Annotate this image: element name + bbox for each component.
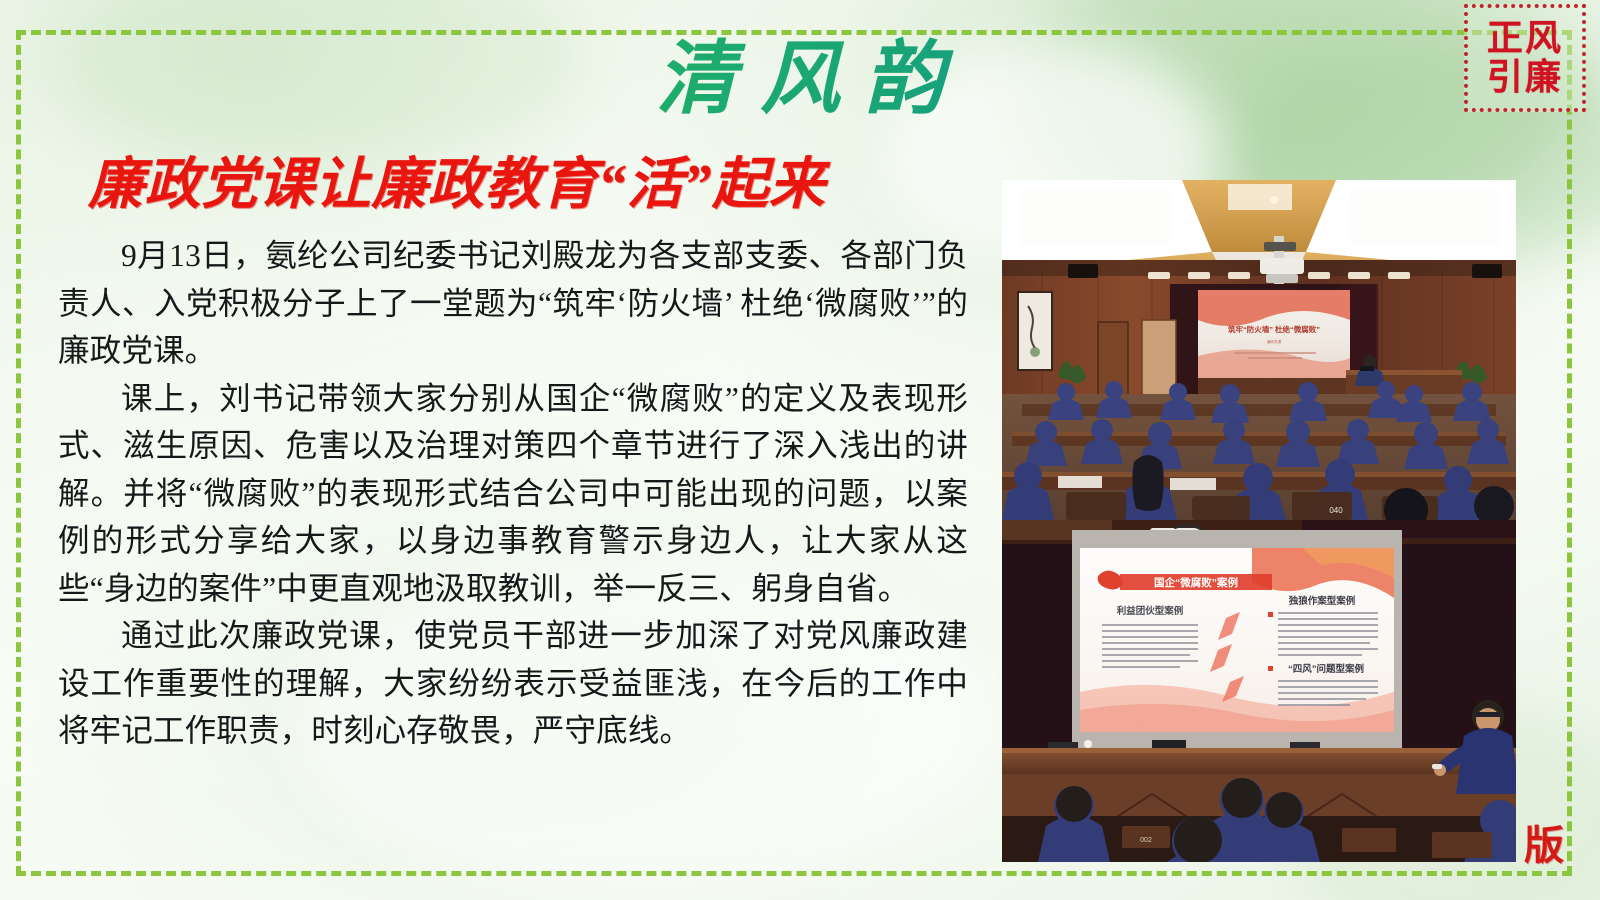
seal-badge-line-2: 引廉 [1487,58,1563,97]
article-paragraph: 课上，刘书记带领大家分别从国企“微腐败”的定义及表现形式、滋生原因、危害以及治理… [58,375,968,613]
photo-lecture: 国企“微腐败”案例 利益团伙型案例 独狼作案型案例 [1002,520,1516,862]
article-headline: 廉政党课让廉政教育“活”起来 [88,152,948,218]
slide-section-3: “四风”问题型案例 [1288,663,1364,675]
edition-stamp: 版 [1524,826,1564,866]
photo-lecture-graphic: 国企“微腐败”案例 利益团伙型案例 独狼作案型案例 [1002,520,1516,862]
poster-page: 清风韵 正风 引廉 廉政党课让廉政教育“活”起来 9月13日，氨纶公司纪委书记刘… [0,0,1600,900]
svg-text:廉政党课: 廉政党课 [1267,339,1282,344]
seal-badge: 正风 引廉 [1464,4,1586,112]
slide-title-bottom: 国企“微腐败”案例 [1154,576,1238,589]
photo-meeting-room: 筑牢“防火墙” 杜绝“微腐败” 廉政党课 [1002,180,1516,520]
article-paragraph: 通过此次廉政党课，使党员干部进一步加深了对党风廉政建设工作重要性的理解，大家纷纷… [58,612,968,755]
slide-title-top: 筑牢“防火墙” 杜绝“微腐败” [1228,324,1320,334]
seat-tag-label: 040 [1329,506,1343,515]
svg-text:002: 002 [1140,837,1152,844]
seal-badge-line-1: 正风 [1487,19,1563,58]
slide-section-2: 独狼作案型案例 [1288,595,1356,607]
photo-meeting-room-graphic: 筑牢“防火墙” 杜绝“微腐败” 廉政党课 [1002,180,1516,520]
slide-section-1: 利益团伙型案例 [1116,605,1184,617]
article-paragraph: 9月13日，氨纶公司纪委书记刘殿龙为各支部支委、各部门负责人、入党积极分子上了一… [58,232,968,375]
article-body: 9月13日，氨纶公司纪委书记刘殿龙为各支部支委、各部门负责人、入党积极分子上了一… [58,232,968,755]
page-title: 清风韵 [0,36,1600,124]
